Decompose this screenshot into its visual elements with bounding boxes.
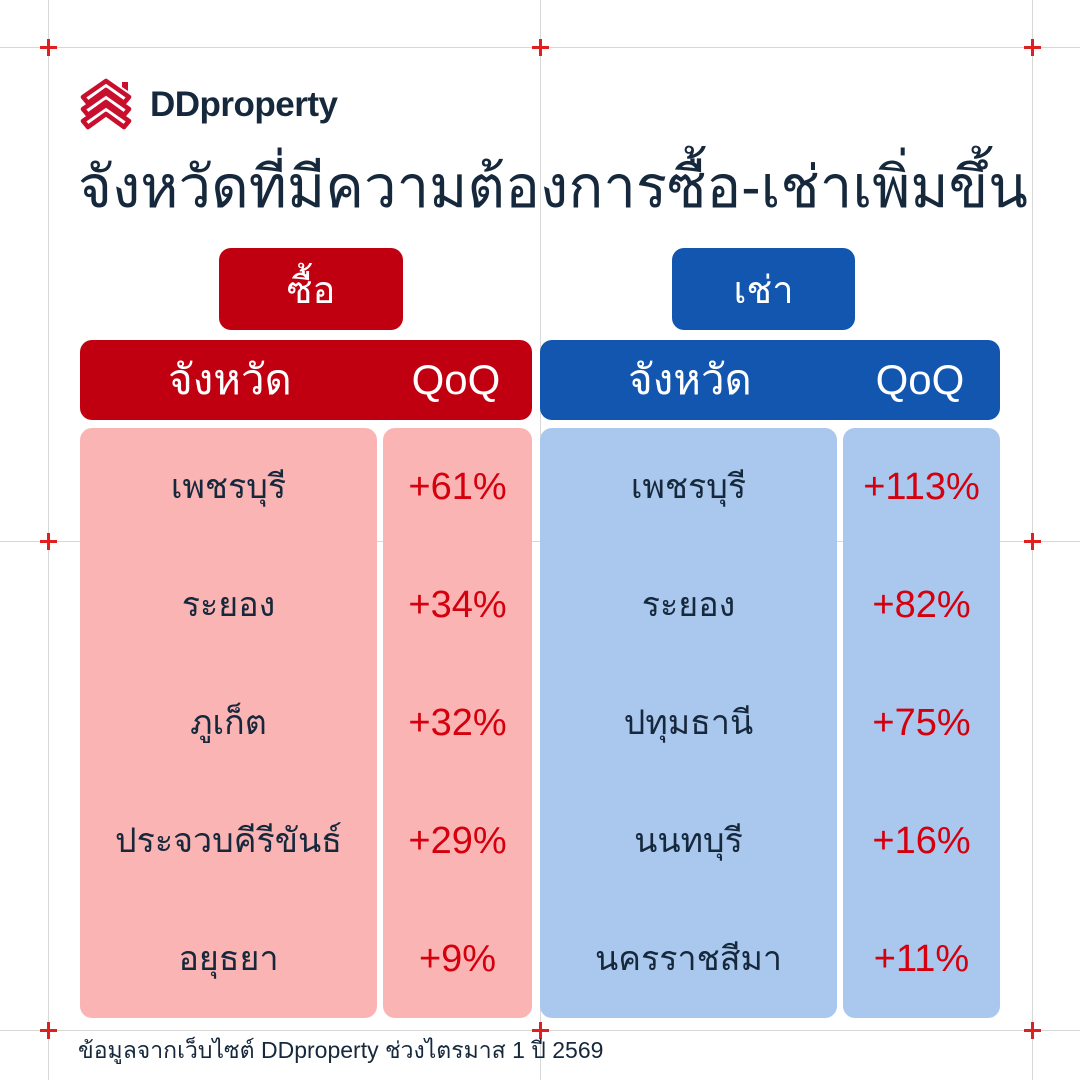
- crosshair-marker: [532, 39, 549, 56]
- crosshair-marker: [40, 533, 57, 550]
- table-row: +113%: [843, 428, 1000, 546]
- table-row: +34%: [383, 546, 532, 664]
- table-row: +11%: [843, 900, 1000, 1018]
- brand-logo: DDproperty: [78, 78, 338, 130]
- brand-name: DDproperty: [150, 87, 338, 122]
- tab-rent[interactable]: เช่า: [672, 248, 855, 330]
- tab-buy[interactable]: ซื้อ: [219, 248, 403, 330]
- crosshair-marker: [40, 1022, 57, 1039]
- table-row: ระยอง: [80, 546, 377, 664]
- table-buy: จังหวัด QoQ เพชรบุรี ระยอง ภูเก็ต ประจวบ…: [80, 340, 532, 1018]
- table-row: เพชรบุรี: [80, 428, 377, 546]
- table-row: นครราชสีมา: [540, 900, 837, 1018]
- table-row: +29%: [383, 782, 532, 900]
- table-row: ปทุมธานี: [540, 664, 837, 782]
- column-header-province: จังหวัด: [80, 340, 380, 420]
- crosshair-marker: [40, 39, 57, 56]
- page-title: จังหวัดที่มีความต้องการซื้อ-เช่าเพิ่มขึ้…: [78, 155, 1028, 222]
- table-rent-qoq-column: +113% +82% +75% +16% +11%: [843, 428, 1000, 1018]
- table-row: +61%: [383, 428, 532, 546]
- table-rent-body: เพชรบุรี ระยอง ปทุมธานี นนทบุรี นครราชสี…: [540, 428, 1000, 1018]
- crosshair-marker: [1024, 1022, 1041, 1039]
- table-row: +16%: [843, 782, 1000, 900]
- table-row: อยุธยา: [80, 900, 377, 1018]
- table-row: นนทบุรี: [540, 782, 837, 900]
- tab-rent-label: เช่า: [733, 259, 793, 320]
- table-buy-qoq-column: +61% +34% +32% +29% +9%: [383, 428, 532, 1018]
- source-note: ข้อมูลจากเว็บไซต์ DDproperty ช่วงไตรมาส …: [78, 1033, 603, 1069]
- table-buy-header-row: จังหวัด QoQ: [80, 340, 532, 420]
- table-row: +82%: [843, 546, 1000, 664]
- table-row: +32%: [383, 664, 532, 782]
- ddproperty-roof-logo-icon: [78, 78, 140, 130]
- column-header-province: จังหวัด: [540, 340, 840, 420]
- table-buy-body: เพชรบุรี ระยอง ภูเก็ต ประจวบคีรีขันธ์ อย…: [80, 428, 532, 1018]
- crosshair-marker: [1024, 533, 1041, 550]
- column-header-qoq: QoQ: [840, 340, 1000, 420]
- table-rent-province-column: เพชรบุรี ระยอง ปทุมธานี นนทบุรี นครราชสี…: [540, 428, 837, 1018]
- table-row: ภูเก็ต: [80, 664, 377, 782]
- table-row: ประจวบคีรีขันธ์: [80, 782, 377, 900]
- table-row: +9%: [383, 900, 532, 1018]
- table-row: ระยอง: [540, 546, 837, 664]
- table-buy-province-column: เพชรบุรี ระยอง ภูเก็ต ประจวบคีรีขันธ์ อย…: [80, 428, 377, 1018]
- table-row: +75%: [843, 664, 1000, 782]
- column-header-qoq: QoQ: [380, 340, 532, 420]
- crosshair-marker: [1024, 39, 1041, 56]
- table-rent: จังหวัด QoQ เพชรบุรี ระยอง ปทุมธานี นนทบ…: [540, 340, 1000, 1018]
- table-row: เพชรบุรี: [540, 428, 837, 546]
- infographic-canvas: DDproperty จังหวัดที่มีความต้องการซื้อ-เ…: [0, 0, 1080, 1080]
- table-rent-header-row: จังหวัด QoQ: [540, 340, 1000, 420]
- tab-buy-label: ซื้อ: [287, 259, 336, 320]
